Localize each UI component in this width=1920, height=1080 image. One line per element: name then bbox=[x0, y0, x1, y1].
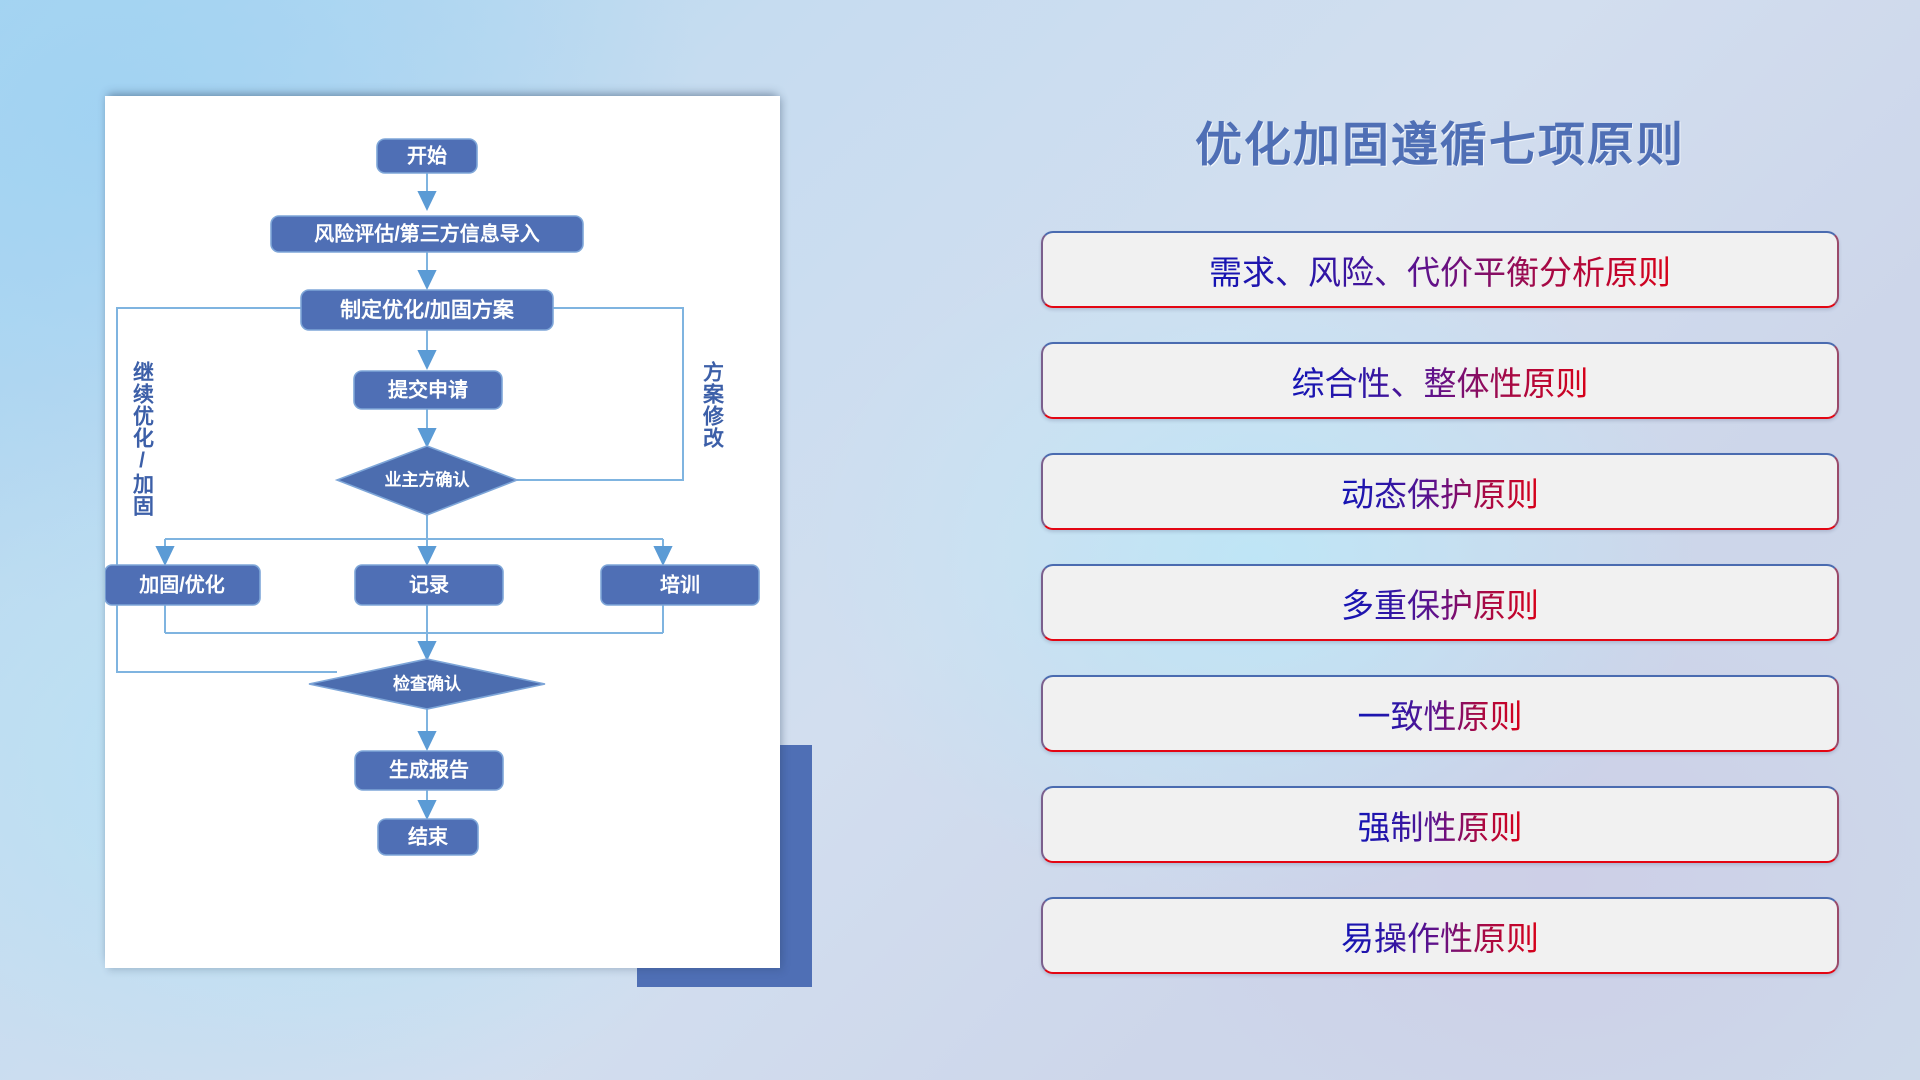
flow-node-owner-confirm-label: 业主方确认 bbox=[385, 470, 471, 490]
connector-owner-to-plan-revision bbox=[505, 308, 683, 480]
flow-node-start[interactable]: 开始 bbox=[377, 139, 477, 173]
principle-item[interactable]: 易操作性原则 bbox=[1041, 897, 1839, 974]
flow-node-start-label: 开始 bbox=[407, 144, 447, 168]
principle-item[interactable]: 综合性、整体性原则 bbox=[1041, 342, 1839, 419]
principles-list: 需求、风险、代价平衡分析原则 综合性、整体性原则 动态保护原则 多重保护原则 一… bbox=[1041, 231, 1839, 1008]
flow-node-reinforce-label: 加固/优化 bbox=[138, 573, 225, 597]
flow-node-check-confirm[interactable]: 检查确认 bbox=[309, 659, 545, 709]
flow-node-check-confirm-label: 检查确认 bbox=[393, 674, 462, 694]
panel-title: 优化加固遵循七项原则 bbox=[1020, 106, 1860, 175]
flowchart-diagram: 开始 风险评估/第三方信息导入 制定优化/加固方案 提交申请 业主方确认 加固/ bbox=[105, 96, 780, 968]
flow-node-risk-assessment[interactable]: 风险评估/第三方信息导入 bbox=[271, 216, 583, 252]
flow-node-make-plan[interactable]: 制定优化/加固方案 bbox=[301, 290, 553, 330]
principles-panel: 优化加固遵循七项原则 需求、风险、代价平衡分析原则 综合性、整体性原则 动态保护… bbox=[1020, 0, 1860, 1080]
loop-label-continue-optimize: 继续优化/加固 bbox=[131, 360, 156, 517]
flow-node-make-plan-label: 制定优化/加固方案 bbox=[340, 298, 515, 322]
flow-node-submit-application-label: 提交申请 bbox=[388, 378, 468, 402]
loop-label-plan-revision: 方案修改 bbox=[701, 360, 726, 449]
principle-label: 多重保护原则 bbox=[1341, 579, 1539, 627]
flow-node-risk-assessment-label: 风险评估/第三方信息导入 bbox=[314, 222, 540, 246]
principle-item[interactable]: 需求、风险、代价平衡分析原则 bbox=[1041, 231, 1839, 308]
flow-node-generate-report-label: 生成报告 bbox=[389, 758, 469, 782]
flow-node-training-label: 培训 bbox=[660, 573, 700, 597]
principle-item[interactable]: 一致性原则 bbox=[1041, 675, 1839, 752]
principle-item[interactable]: 强制性原则 bbox=[1041, 786, 1839, 863]
principle-label: 综合性、整体性原则 bbox=[1292, 357, 1589, 405]
flow-node-end[interactable]: 结束 bbox=[378, 819, 478, 855]
principle-item[interactable]: 多重保护原则 bbox=[1041, 564, 1839, 641]
flow-node-generate-report[interactable]: 生成报告 bbox=[355, 751, 503, 790]
principle-label: 强制性原则 bbox=[1358, 801, 1523, 849]
principle-label: 一致性原则 bbox=[1358, 690, 1523, 738]
flow-node-end-label: 结束 bbox=[408, 825, 449, 849]
flow-node-training[interactable]: 培训 bbox=[601, 565, 759, 605]
principle-item[interactable]: 动态保护原则 bbox=[1041, 453, 1839, 530]
slide-root: 开始 风险评估/第三方信息导入 制定优化/加固方案 提交申请 业主方确认 加固/ bbox=[0, 0, 1920, 1080]
connector-branch-merge-to-check bbox=[165, 605, 663, 659]
principle-label: 易操作性原则 bbox=[1341, 912, 1539, 960]
connector-owner-branch-fanout bbox=[165, 514, 663, 564]
flowchart-card: 开始 风险评估/第三方信息导入 制定优化/加固方案 提交申请 业主方确认 加固/ bbox=[105, 96, 780, 968]
principle-label: 动态保护原则 bbox=[1341, 468, 1539, 516]
principle-label: 需求、风险、代价平衡分析原则 bbox=[1209, 246, 1671, 294]
flow-node-owner-confirm[interactable]: 业主方确认 bbox=[337, 446, 517, 515]
flow-node-record-label: 记录 bbox=[409, 574, 449, 597]
flow-node-record[interactable]: 记录 bbox=[355, 565, 503, 605]
flow-node-submit-application[interactable]: 提交申请 bbox=[354, 371, 502, 409]
flow-node-reinforce[interactable]: 加固/优化 bbox=[105, 565, 260, 605]
